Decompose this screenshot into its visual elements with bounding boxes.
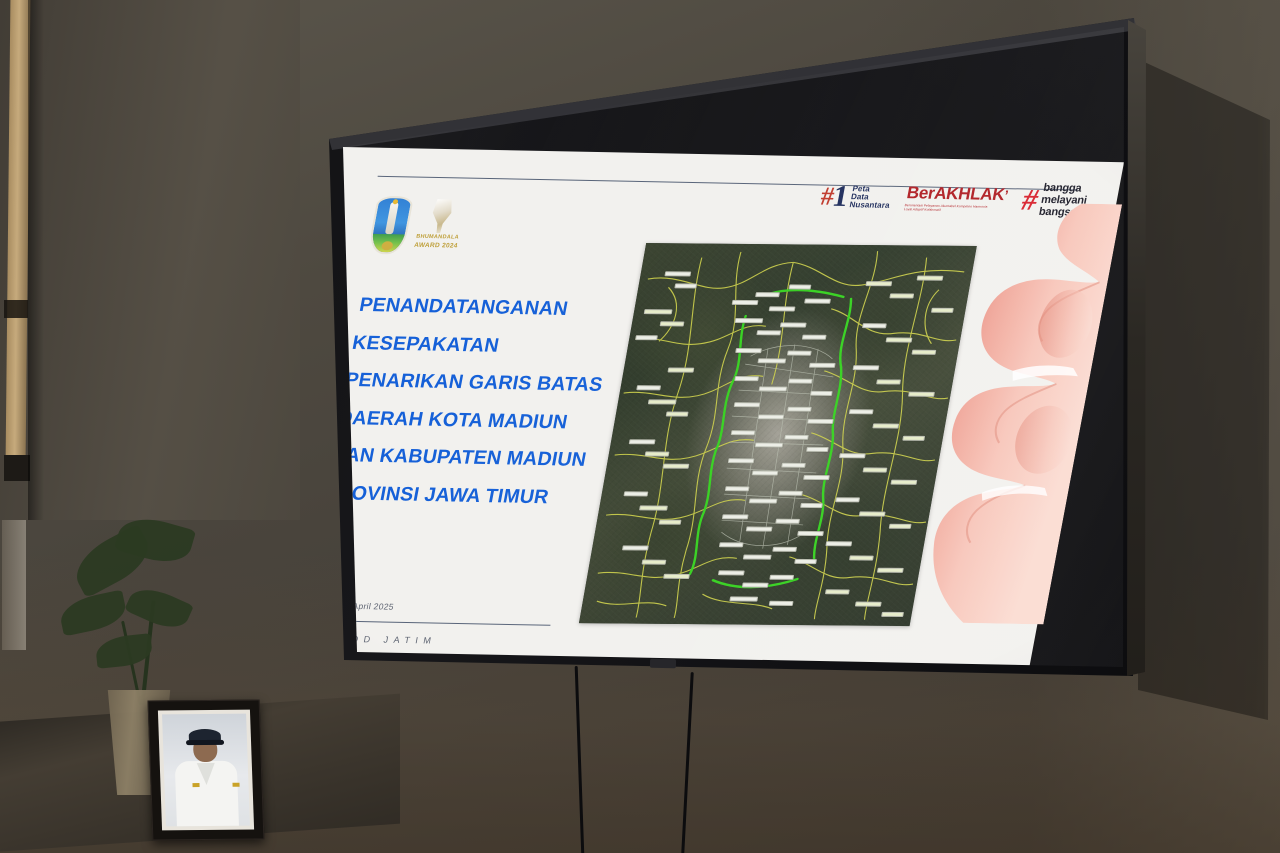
instagram-icon xyxy=(889,753,907,768)
bangga-line-3: bangsa xyxy=(1038,207,1086,220)
title-line: DAERAH KOTA MADIUN xyxy=(337,408,641,433)
slide-left-logos: BHUMANDALA AWARD 2024 xyxy=(367,196,467,256)
number-one-glyph: 1 xyxy=(831,184,851,210)
globe-icon xyxy=(725,750,743,765)
footer-rule-top xyxy=(562,730,992,739)
television: BHUMANDALA AWARD 2024 # 1 Peta Data xyxy=(0,0,1280,853)
instagram-handle: tuantanahjatim xyxy=(911,755,987,768)
berakhlak-subtitle: Berorientasi Pelayanan Akuntabel Kompete… xyxy=(903,203,991,214)
tv-ir-sensor xyxy=(650,659,676,669)
award-logo-line2: AWARD 2024 xyxy=(413,242,458,250)
hash-glyph: # xyxy=(1018,188,1041,212)
berakhlak-wordmark: BerAKHLAKʼ xyxy=(905,184,1009,203)
slide-organization: RO POD JATIM xyxy=(306,633,437,646)
instagram-item: tuantanahjatim xyxy=(889,753,986,770)
satellite-boundary-map xyxy=(579,243,977,626)
website-item: www.ropem.jatimprov.go.id xyxy=(725,750,883,768)
berakhlak-logo: BerAKHLAKʼ Berorientasi Pelayanan Akunta… xyxy=(903,184,1009,214)
peta-data-nusantara-logo: # 1 Peta Data Nusantara xyxy=(819,184,894,211)
map-boundary-lines xyxy=(579,243,977,626)
title-line: PENANDATANGANAN xyxy=(358,296,662,321)
tv-screen: BHUMANDALA AWARD 2024 # 1 Peta Data xyxy=(0,0,1280,853)
bangga-melayani-bangsa-logo: # bangga melayani bangsa xyxy=(1019,182,1090,219)
peta-line-3: Nusantara xyxy=(849,201,891,210)
title-line: DAN KABUPATEN MADIUN xyxy=(329,446,633,471)
slide-right-logos: # 1 Peta Data Nusantara BerAKHLAKʼ xyxy=(818,179,1090,220)
room-scene: BHUMANDALA AWARD 2024 # 1 Peta Data xyxy=(0,0,1280,853)
title-line: PROVINSI JAWA TIMUR xyxy=(322,483,626,508)
east-java-emblem-icon xyxy=(367,196,414,255)
slide-rule-above-org xyxy=(300,620,550,626)
award-logo-line1: BHUMANDALA xyxy=(415,234,460,241)
award-logo-icon: BHUMANDALA AWARD 2024 xyxy=(412,197,467,256)
footer-rule-bottom xyxy=(553,776,983,785)
slide-footer: www.ropem.jatimprov.go.id tuantanahjatim xyxy=(725,750,987,770)
title-line: PENARIKAN GARIS BATAS xyxy=(344,371,648,396)
website-url: www.ropem.jatimprov.go.id xyxy=(746,752,882,767)
title-line: KESEPAKATAN xyxy=(351,333,655,358)
berakhlak-main: AKHLAK xyxy=(933,183,1007,203)
presentation-slide: BHUMANDALA AWARD 2024 # 1 Peta Data xyxy=(223,147,1124,802)
berakhlak-prefix: Ber xyxy=(905,183,936,203)
